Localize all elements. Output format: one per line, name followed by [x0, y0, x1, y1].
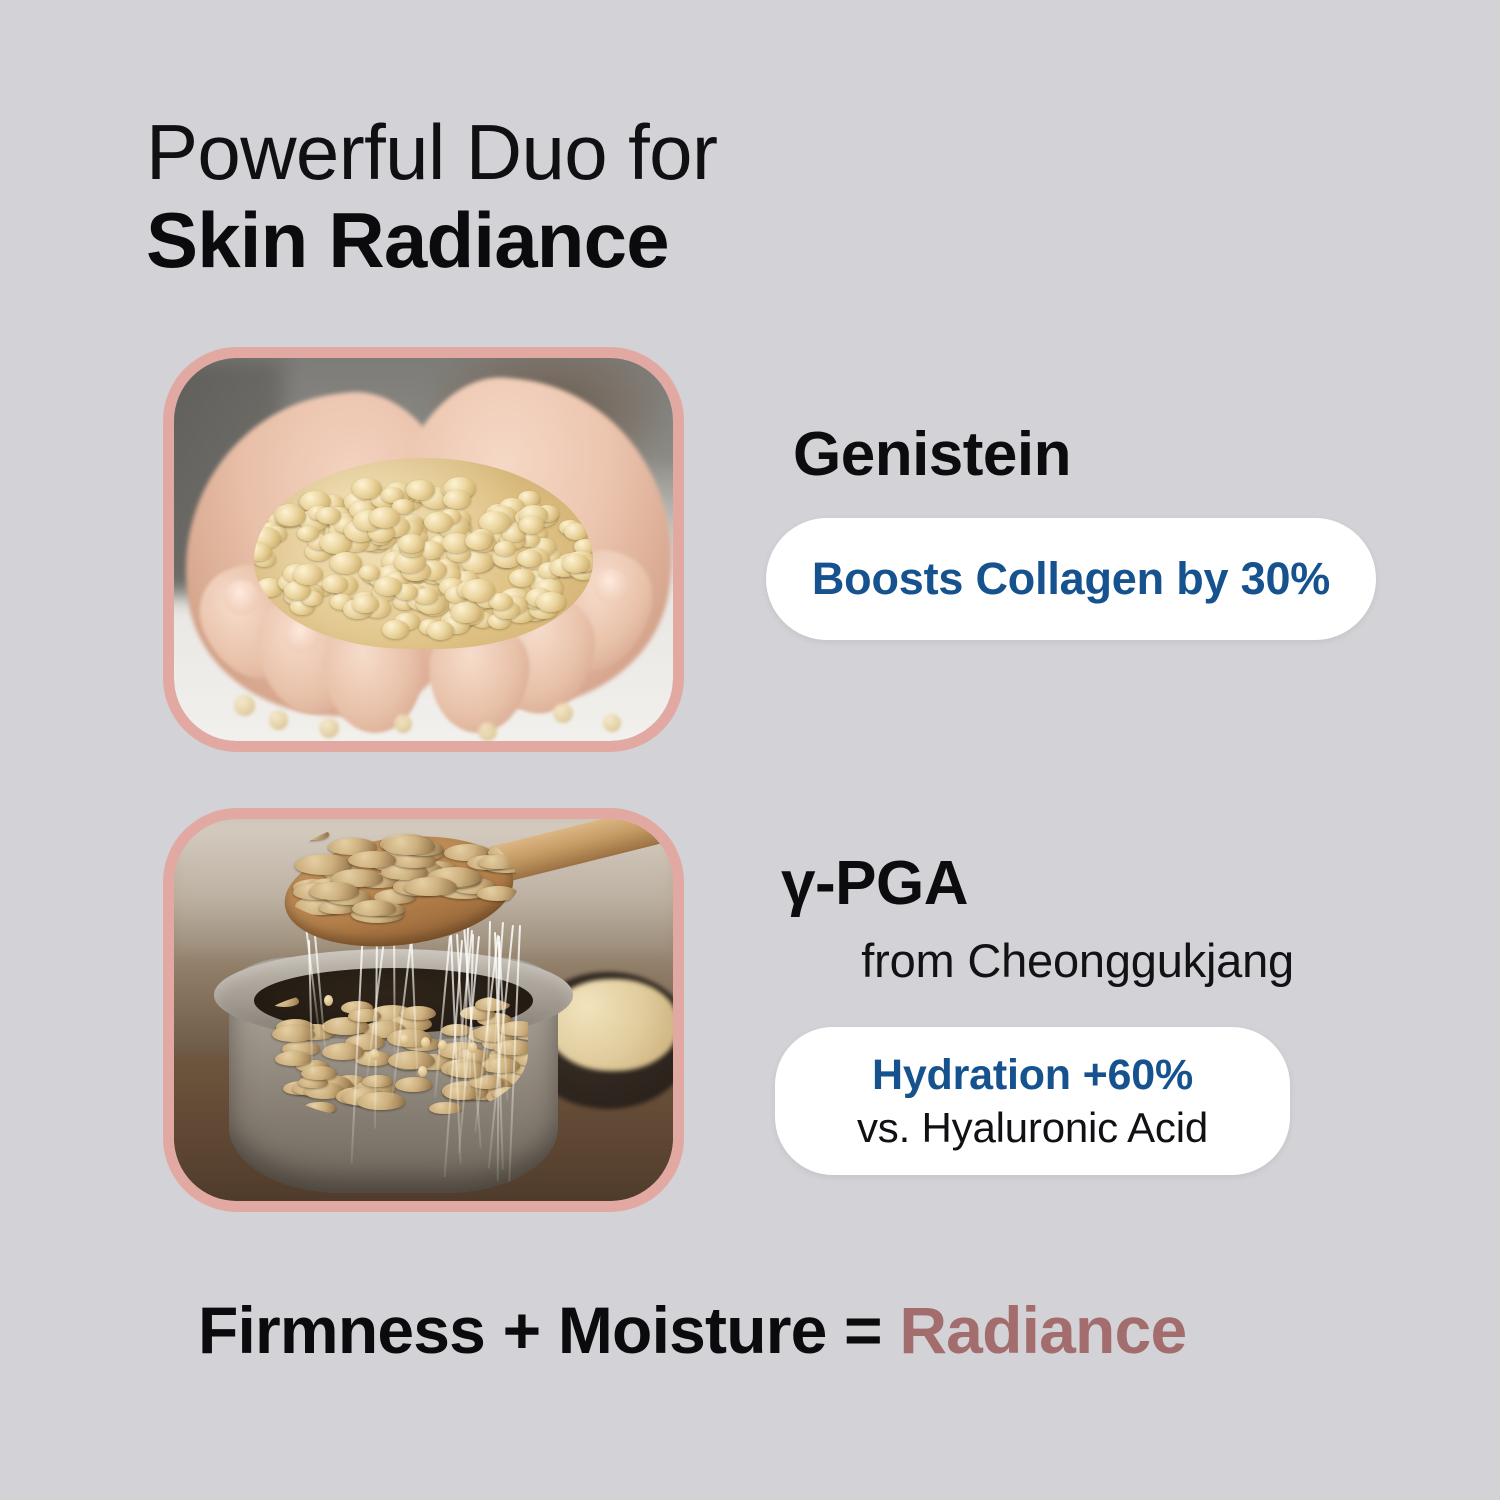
soybean [352, 478, 383, 499]
headline-line-2: Skin Radiance [146, 199, 1046, 282]
claim-badge-genistein: Boosts Collagen by 30% [766, 518, 1376, 640]
fermented-soybean [404, 877, 457, 896]
fermented-soybean [352, 900, 396, 916]
loose-soybean [234, 695, 255, 716]
ingredient-subtitle-pga: from Cheonggukjang [754, 933, 1294, 988]
soybean [322, 575, 348, 593]
soybean [359, 565, 380, 580]
claim-text-pga-secondary: vs. Hyaluronic Acid [857, 1104, 1208, 1152]
loose-soybean [394, 714, 412, 732]
soybean [494, 541, 516, 556]
loose-soybean [553, 703, 573, 723]
fermented-soybean [275, 1051, 313, 1066]
ingredient-title-genistein: Genistein [793, 424, 1071, 486]
fermented-soybean [301, 1066, 337, 1080]
headline-line-1: Powerful Duo for [146, 112, 1046, 193]
fermented-soybean [309, 882, 360, 900]
fermented-soybean [348, 851, 396, 868]
tagline-prefix: Firmness + Moisture = [198, 1293, 899, 1367]
soybean [536, 592, 566, 612]
claim-text-genistein: Boosts Collagen by 30% [812, 553, 1330, 605]
fermented-soybean [293, 828, 329, 841]
loose-soybean [319, 718, 339, 738]
soybean [330, 552, 362, 574]
ingredient-image-genistein [163, 347, 684, 752]
strand-droplet [421, 1037, 430, 1048]
soybean [519, 516, 545, 534]
ingredient-image-pga [163, 808, 684, 1212]
soybeans-in-hands-photo [174, 358, 673, 741]
soybean [462, 579, 494, 601]
claim-text-pga-primary: Hydration +60% [872, 1051, 1193, 1100]
loose-soybean [269, 710, 288, 729]
soybean [352, 595, 378, 613]
fingernail [593, 569, 628, 603]
soybean [564, 523, 588, 540]
soybean [374, 577, 402, 596]
soybean [517, 550, 541, 567]
fermented-soybean [357, 1092, 405, 1111]
strand-droplet [400, 1034, 409, 1045]
soybean [297, 526, 319, 541]
claim-badge-pga: Hydration +60% vs. Hyaluronic Acid [775, 1027, 1290, 1175]
fermented-soybean [270, 995, 300, 1007]
ingredient-title-pga: γ-PGA [781, 853, 968, 915]
strand-droplet [468, 1042, 477, 1053]
fermented-soybean [400, 1006, 435, 1020]
fermented-soybean [272, 1025, 315, 1042]
fingernail [224, 580, 259, 614]
fermented-soybean [395, 1077, 431, 1091]
bottom-tagline: Firmness + Moisture = Radiance [198, 1292, 1186, 1368]
soybean [427, 621, 454, 640]
strand-droplet [324, 995, 333, 1006]
page-title: Powerful Duo for Skin Radiance [146, 112, 1046, 282]
loose-soybean [603, 714, 621, 732]
strand-droplet [370, 1049, 379, 1060]
fermented-soybean [383, 836, 435, 854]
soybean [369, 507, 399, 528]
fermented-soybean [477, 886, 518, 901]
soybean [465, 532, 491, 550]
soybean [443, 490, 471, 509]
tagline-accent: Radiance [899, 1293, 1186, 1367]
soybean [382, 620, 410, 639]
infographic-canvas: Powerful Duo for Skin Radiance [0, 0, 1500, 1500]
soybean [398, 534, 425, 553]
soybean [276, 506, 306, 527]
cheonggukjang-pot-photo [174, 819, 673, 1201]
fermented-soybean [303, 1102, 336, 1115]
fermented-soybean [478, 855, 518, 869]
